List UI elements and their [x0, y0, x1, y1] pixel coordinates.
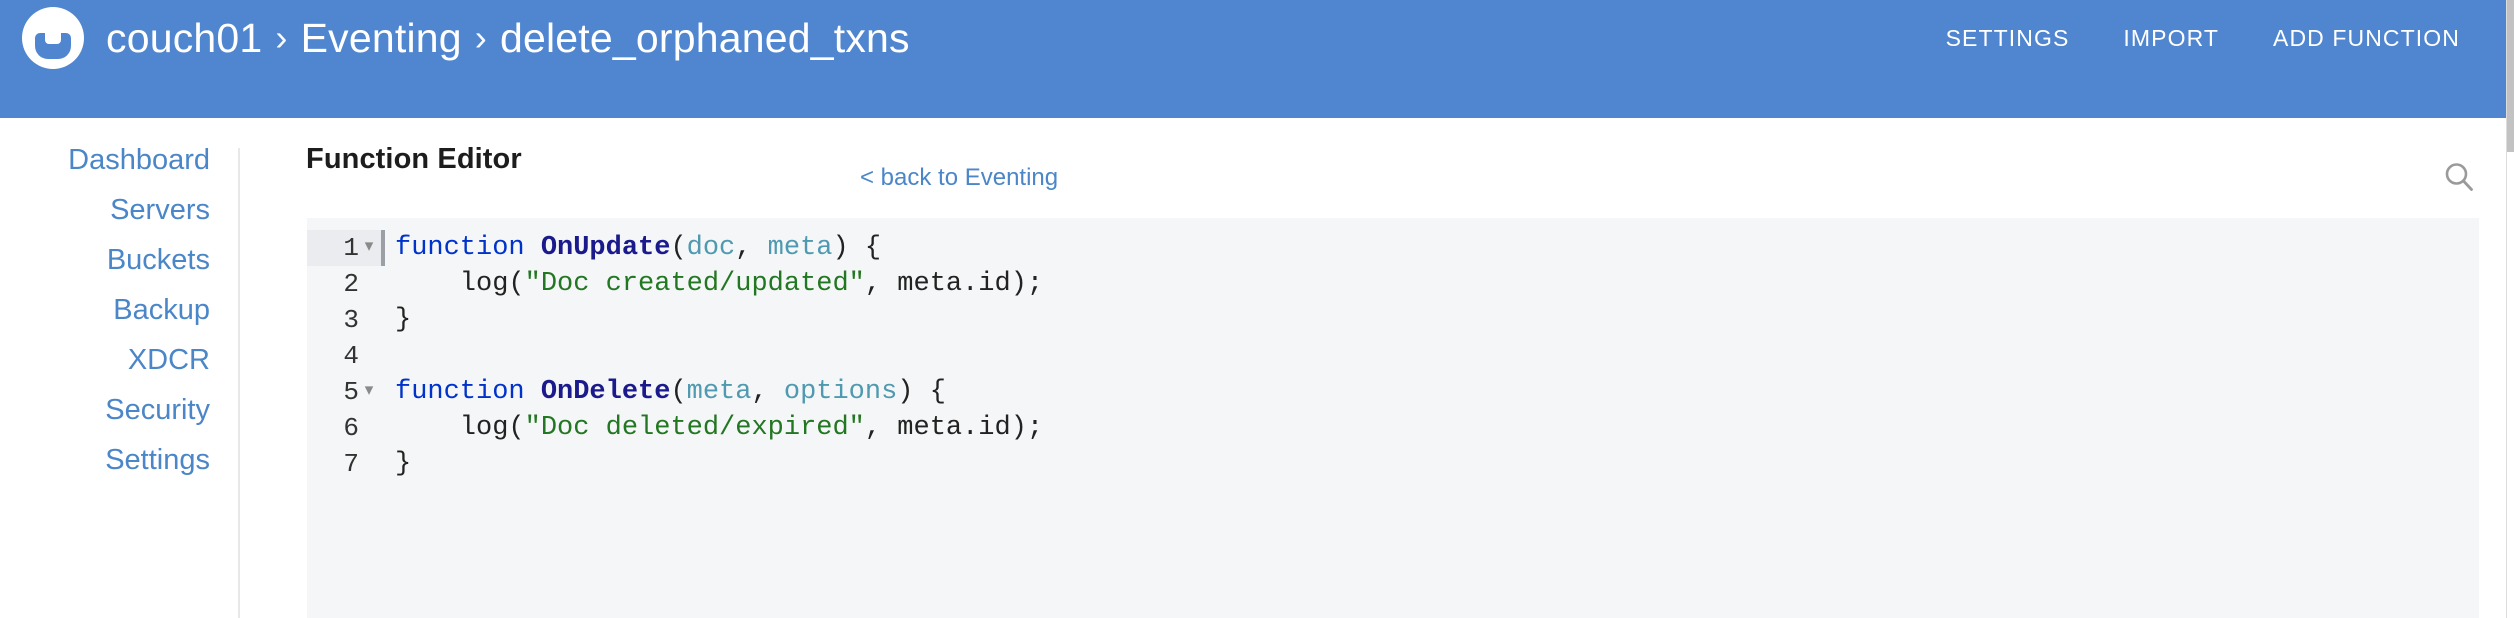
- line-number: 7: [343, 449, 361, 479]
- content-header: Function Editor < back to Eventing: [240, 118, 2506, 200]
- nav-add-function[interactable]: ADD FUNCTION: [2273, 25, 2460, 52]
- page-scrollbar-thumb[interactable]: [2507, 0, 2514, 152]
- code-line-text[interactable]: }: [385, 302, 2479, 338]
- code-token: ,: [735, 233, 767, 263]
- breadcrumb-separator-2: ›: [475, 20, 487, 56]
- line-number: 3: [343, 305, 361, 335]
- back-to-eventing-link[interactable]: < back to Eventing: [860, 164, 1058, 192]
- code-token: ) {: [832, 233, 881, 263]
- top-nav: SETTINGS IMPORT ADD FUNCTION: [1946, 25, 2470, 52]
- code-line-text[interactable]: log("Doc deleted/expired", meta.id);: [385, 410, 2479, 446]
- nav-import[interactable]: IMPORT: [2123, 25, 2219, 52]
- line-number-gutter: 7▾: [307, 446, 381, 482]
- code-line[interactable]: 3▾}: [307, 302, 2479, 338]
- code-token: [525, 233, 541, 263]
- breadcrumb: couch01 › Eventing › delete_orphaned_txn…: [106, 18, 910, 59]
- sidebar-item-dashboard[interactable]: Dashboard: [68, 140, 238, 181]
- top-header-bar: couch01 › Eventing › delete_orphaned_txn…: [0, 0, 2506, 118]
- fold-toggle-icon[interactable]: ▾: [361, 374, 377, 410]
- code-token: log(: [395, 413, 525, 443]
- code-token: function: [395, 377, 525, 407]
- code-line-text[interactable]: function OnDelete(meta, options) {: [385, 374, 2479, 410]
- code-line[interactable]: 4▾: [307, 338, 2479, 374]
- breadcrumb-current: delete_orphaned_txns: [500, 18, 910, 59]
- breadcrumb-separator-1: ›: [275, 20, 287, 56]
- code-token: }: [395, 449, 411, 479]
- code-token: (: [670, 233, 686, 263]
- line-number: 5: [343, 377, 361, 407]
- code-token: doc: [687, 233, 736, 263]
- sidebar-item-xdcr[interactable]: XDCR: [128, 340, 238, 381]
- code-token: "Doc deleted/expired": [525, 413, 865, 443]
- top-header-inner: couch01 › Eventing › delete_orphaned_txn…: [0, 0, 2506, 76]
- sidebar-item-servers[interactable]: Servers: [110, 190, 238, 231]
- code-token: options: [784, 377, 897, 407]
- nav-settings[interactable]: SETTINGS: [1946, 25, 2070, 52]
- line-number: 4: [343, 341, 361, 371]
- line-number-gutter: 5▾: [307, 374, 381, 410]
- code-token: OnUpdate: [541, 233, 671, 263]
- code-token: , meta.id);: [865, 413, 1043, 443]
- code-token: "Doc created/updated": [525, 269, 865, 299]
- breadcrumb-cluster[interactable]: couch01: [106, 18, 262, 59]
- code-editor[interactable]: 1▾function OnUpdate(doc, meta) {2▾ log("…: [307, 218, 2479, 618]
- code-line-text[interactable]: function OnUpdate(doc, meta) {: [385, 230, 2479, 266]
- line-number: 1: [343, 233, 361, 263]
- code-token: , meta.id);: [865, 269, 1043, 299]
- sidebar-item-buckets[interactable]: Buckets: [107, 240, 238, 281]
- line-number-gutter: 6▾: [307, 410, 381, 446]
- code-line[interactable]: 2▾ log("Doc created/updated", meta.id);: [307, 266, 2479, 302]
- main-content: Function Editor < back to Eventing 1▾fun…: [240, 118, 2506, 618]
- line-number-gutter: 3▾: [307, 302, 381, 338]
- app-root: couch01 › Eventing › delete_orphaned_txn…: [0, 0, 2514, 618]
- breadcrumb-section[interactable]: Eventing: [301, 18, 462, 59]
- code-token: [525, 377, 541, 407]
- page-title: Function Editor: [306, 143, 522, 176]
- couchbase-logo-icon[interactable]: [22, 7, 84, 69]
- page-scrollbar[interactable]: [2506, 0, 2514, 618]
- sidebar: Dashboard Servers Buckets Backup XDCR Se…: [0, 118, 238, 618]
- sidebar-item-backup[interactable]: Backup: [113, 290, 238, 331]
- code-token: meta: [687, 377, 752, 407]
- line-number-gutter: 4▾: [307, 338, 381, 374]
- code-line[interactable]: 7▾}: [307, 446, 2479, 482]
- line-number-gutter: 2▾: [307, 266, 381, 302]
- code-line-text[interactable]: }: [385, 446, 2479, 482]
- code-token: }: [395, 305, 411, 335]
- code-token: ,: [751, 377, 783, 407]
- code-token: (: [670, 377, 686, 407]
- code-line[interactable]: 5▾function OnDelete(meta, options) {: [307, 374, 2479, 410]
- logo-notch-shape: [45, 33, 61, 44]
- sidebar-item-settings[interactable]: Settings: [105, 440, 238, 481]
- code-line-text[interactable]: [385, 338, 2479, 374]
- code-token: ) {: [897, 377, 946, 407]
- code-line-text[interactable]: log("Doc created/updated", meta.id);: [385, 266, 2479, 302]
- code-line[interactable]: 1▾function OnUpdate(doc, meta) {: [307, 230, 2479, 266]
- code-token: meta: [768, 233, 833, 263]
- sidebar-item-security[interactable]: Security: [105, 390, 238, 431]
- code-token: function: [395, 233, 525, 263]
- line-number: 6: [343, 413, 361, 443]
- line-number: 2: [343, 269, 361, 299]
- search-icon[interactable]: [2442, 160, 2476, 194]
- fold-toggle-icon[interactable]: ▾: [361, 230, 377, 266]
- line-number-gutter: 1▾: [307, 230, 381, 266]
- code-line[interactable]: 6▾ log("Doc deleted/expired", meta.id);: [307, 410, 2479, 446]
- code-token: log(: [395, 269, 525, 299]
- code-token: OnDelete: [541, 377, 671, 407]
